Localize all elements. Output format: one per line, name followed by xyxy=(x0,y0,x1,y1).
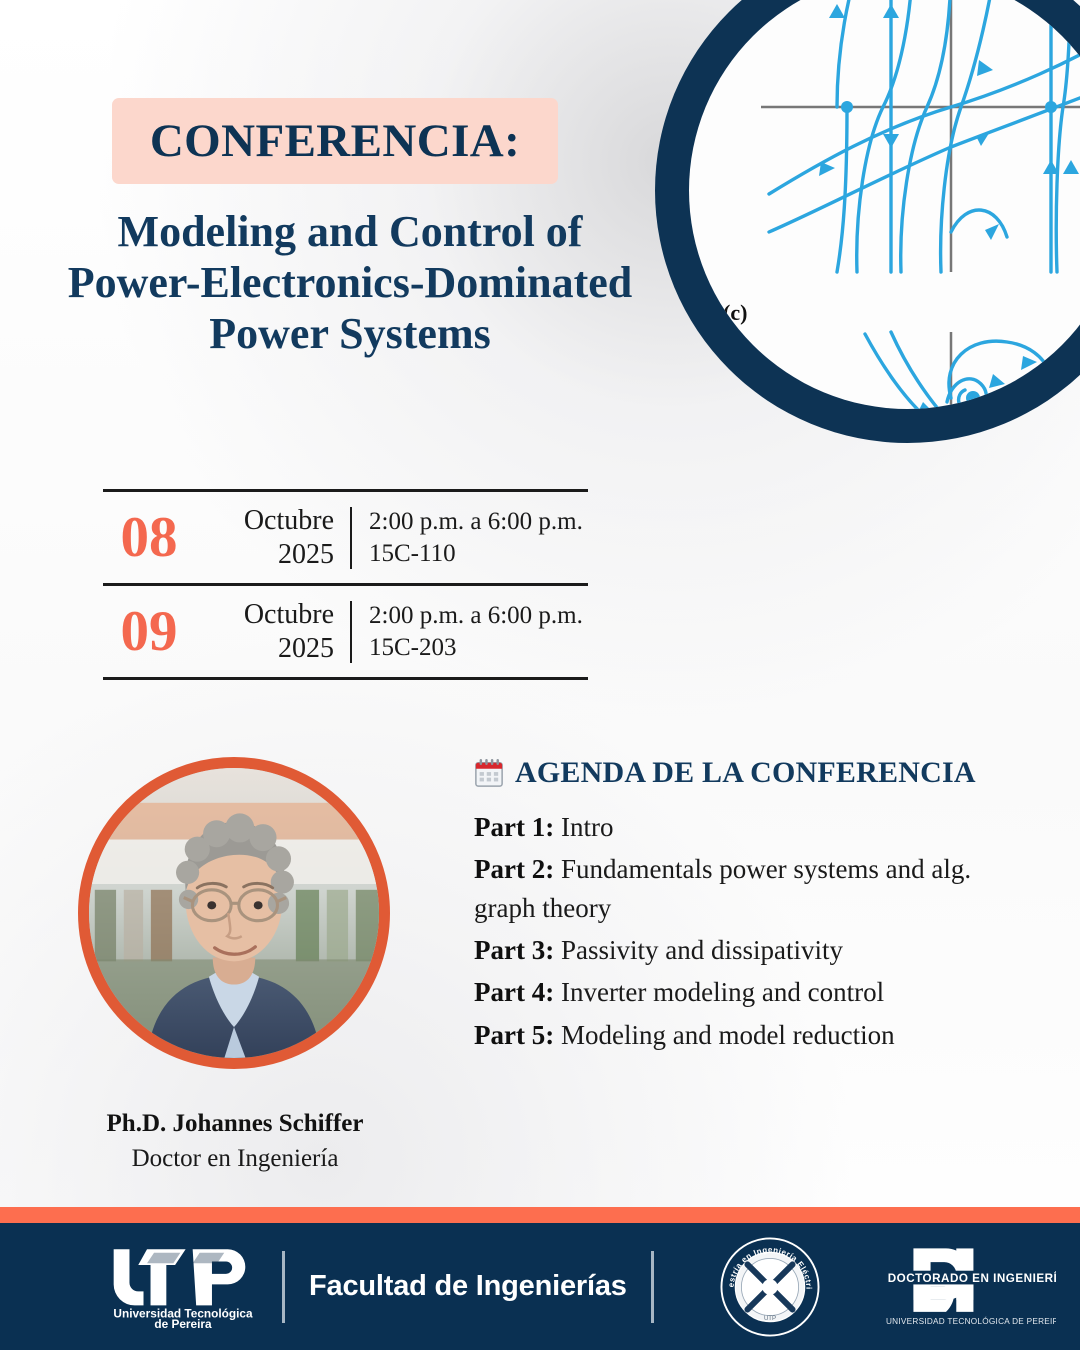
speaker-role: Doctor en Ingeniería xyxy=(40,1145,430,1173)
footer-bar: Universidad Tecnológica de Pereira Facul… xyxy=(0,1223,1080,1350)
svg-text:(c): (c) xyxy=(723,300,747,325)
doctorate-logo: DOCTORADO EN INGENIERÍA UNIVERSIDAD TECN… xyxy=(884,1245,1056,1329)
doctorate-title: DOCTORADO EN INGENIERÍA xyxy=(887,1271,1055,1284)
schedule-date: Octubre 2025 xyxy=(195,504,350,571)
speaker-portrait-image xyxy=(89,768,379,1058)
footer-divider-1 xyxy=(282,1251,285,1323)
speaker-name: Ph.D. Johannes Schiffer xyxy=(40,1110,430,1138)
agenda-item: Part 2: Fundamentals power systems and a… xyxy=(474,850,1034,927)
seal-abbr: UTP xyxy=(764,1315,776,1321)
doctorate-university: UNIVERSIDAD TECNOLÓGICA DE PEREIRA xyxy=(886,1315,1056,1325)
utp-logo: Universidad Tecnológica de Pereira xyxy=(108,1244,258,1330)
schedule-when: 2:00 p.m. a 6:00 p.m. 15C-110 xyxy=(352,506,588,570)
agenda-item-text: Passivity and dissipativity xyxy=(554,935,843,965)
utp-name-line2: de Pereira xyxy=(154,1317,212,1330)
calendar-icon xyxy=(474,758,504,788)
page-title: Modeling and Control of Power-Electronic… xyxy=(60,206,640,359)
schedule-room: 15C-203 xyxy=(369,632,588,664)
schedule-date: Octubre 2025 xyxy=(195,598,350,665)
agenda-item: Part 4: Inverter modeling and control xyxy=(474,973,1034,1011)
schedule-table: 08 Octubre 2025 2:00 p.m. a 6:00 p.m. 15… xyxy=(103,489,588,680)
schedule-row: 08 Octubre 2025 2:00 p.m. a 6:00 p.m. 15… xyxy=(103,492,588,583)
conference-badge: CONFERENCIA: xyxy=(112,98,558,184)
agenda-item-text: Modeling and model reduction xyxy=(554,1020,894,1050)
schedule-year: 2025 xyxy=(195,538,334,572)
schedule-room: 15C-110 xyxy=(369,538,588,570)
phase-portrait-circle: (c) (d) xyxy=(655,0,1080,443)
masters-seal-logo: Maestría en Ingeniería Eléctrica UTP xyxy=(718,1235,822,1339)
conference-badge-label: CONFERENCIA: xyxy=(150,114,520,168)
schedule-year: 2025 xyxy=(195,632,334,666)
orange-divider-bar xyxy=(0,1207,1080,1223)
speaker-avatar xyxy=(78,757,390,1069)
schedule-row: 09 Octubre 2025 2:00 p.m. a 6:00 p.m. 15… xyxy=(103,586,588,677)
agenda-title: AGENDA DE LA CONFERENCIA xyxy=(515,756,976,790)
agenda-item-label: Part 2: xyxy=(474,854,554,884)
agenda-item-text: Inverter modeling and control xyxy=(554,977,884,1007)
agenda-item-label: Part 5: xyxy=(474,1020,554,1050)
agenda-item-label: Part 1: xyxy=(474,812,554,842)
agenda-item-label: Part 3: xyxy=(474,935,554,965)
agenda-item: Part 5: Modeling and model reduction xyxy=(474,1016,1034,1054)
agenda-item-label: Part 4: xyxy=(474,977,554,1007)
agenda-item: Part 3: Passivity and dissipativity xyxy=(474,931,1034,969)
phase-portrait-diagram: (c) (d) xyxy=(689,0,1080,409)
agenda-header: AGENDA DE LA CONFERENCIA xyxy=(474,756,1034,790)
schedule-month: Octubre xyxy=(195,598,334,632)
utp-logo-icon: Universidad Tecnológica de Pereira xyxy=(108,1244,258,1330)
agenda-section: AGENDA DE LA CONFERENCIA Part 1: Intro P… xyxy=(474,756,1034,1058)
agenda-item-text: Intro xyxy=(554,812,613,842)
agenda-item: Part 1: Intro xyxy=(474,808,1034,846)
schedule-when: 2:00 p.m. a 6:00 p.m. 15C-203 xyxy=(352,600,588,664)
schedule-time: 2:00 p.m. a 6:00 p.m. xyxy=(369,600,588,632)
schedule-month: Octubre xyxy=(195,504,334,538)
schedule-day: 08 xyxy=(103,509,195,566)
schedule-time: 2:00 p.m. a 6:00 p.m. xyxy=(369,506,588,538)
schedule-rule-bottom xyxy=(103,677,588,680)
phase-portrait-inner: (c) (d) xyxy=(689,0,1080,409)
schedule-day: 09 xyxy=(103,603,195,660)
footer-divider-2 xyxy=(651,1251,654,1323)
faculty-label: Facultad de Ingenierías xyxy=(309,1270,627,1303)
